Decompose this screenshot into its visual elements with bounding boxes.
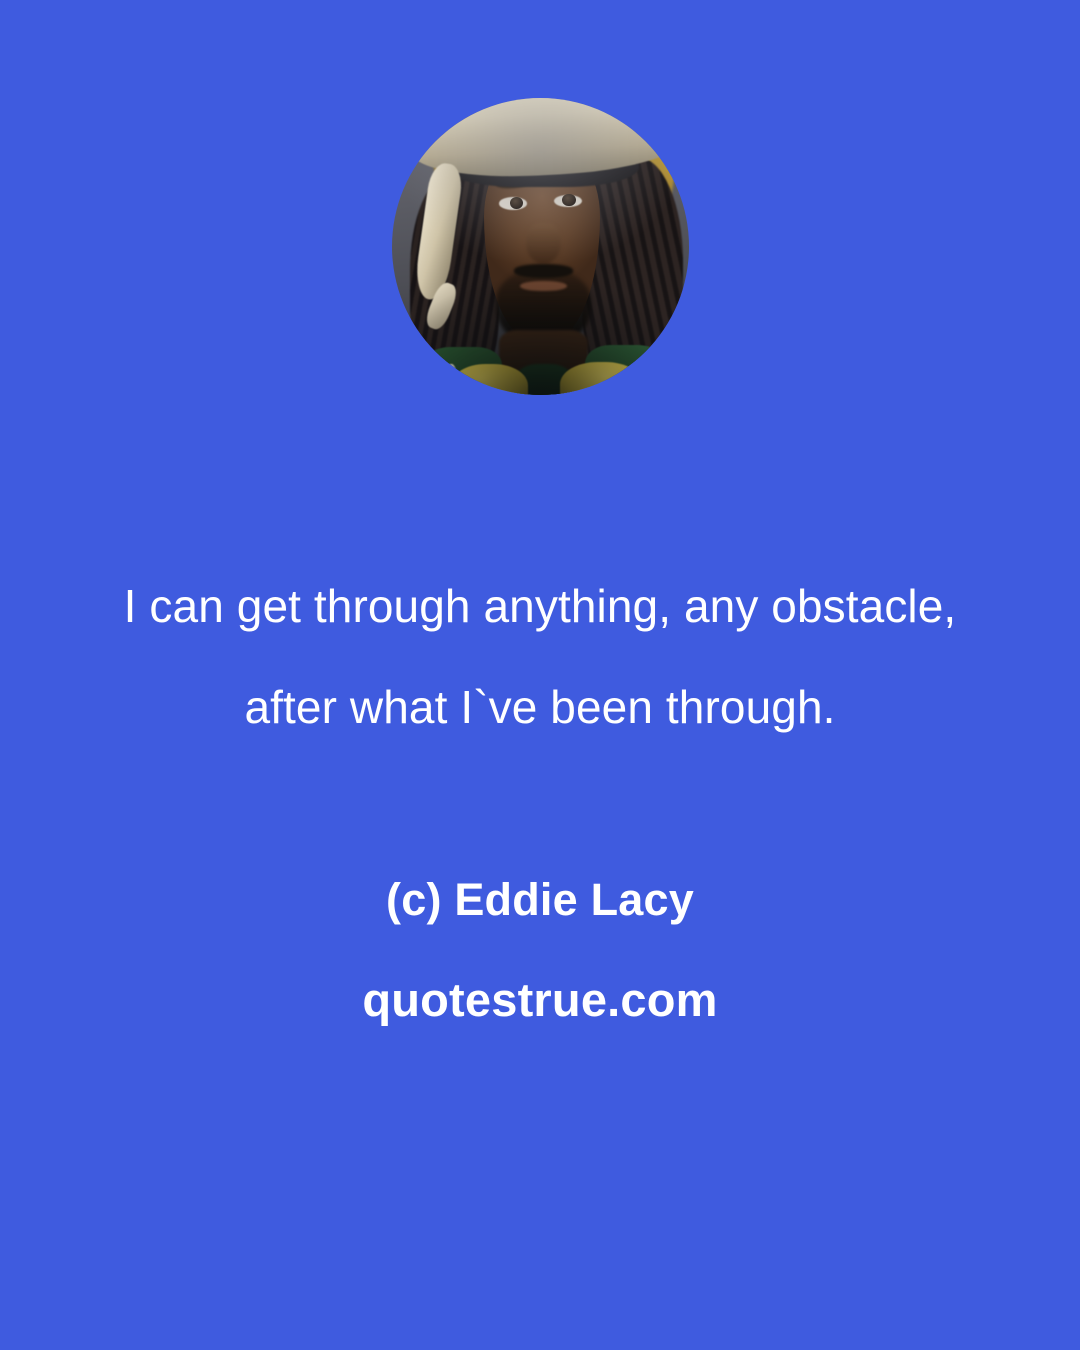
quote-author: (c) Eddie Lacy xyxy=(0,874,1080,926)
quote-text: I can get through anything, any obstacle… xyxy=(0,556,1080,758)
avatar xyxy=(392,98,689,395)
photo-vignette xyxy=(392,98,689,395)
quote-card: I can get through anything, any obstacle… xyxy=(0,0,1080,1350)
portrait-photo-icon xyxy=(392,98,689,395)
site-watermark: quotestrue.com xyxy=(0,972,1080,1027)
